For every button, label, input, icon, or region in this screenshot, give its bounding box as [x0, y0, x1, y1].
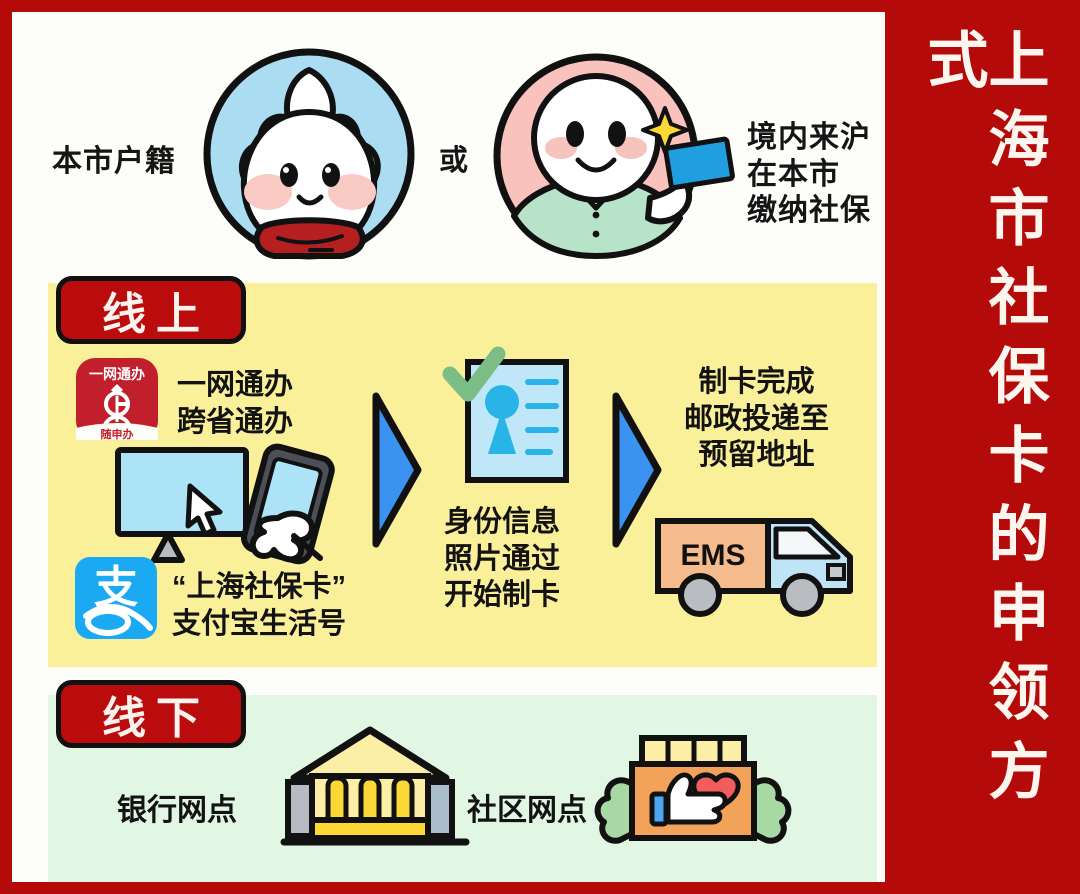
nonresident-label: 境内来沪 在本市 缴纳社保 — [747, 120, 871, 230]
app-icon-top-text: 一网通办 — [89, 366, 145, 382]
step-two-caption: 身份信息 照片通过 开始制卡 — [444, 504, 560, 614]
page-title: 上海市社保卡的申领方式 — [922, 28, 1044, 894]
vertical-title-bar: 上海市社保卡的申领方式 — [885, 0, 1080, 894]
resident-avatar — [202, 42, 417, 267]
eligibility-row: 本市户籍 或 — [12, 12, 885, 282]
ems-truck-icon: EMS — [652, 507, 867, 622]
alipay-caption: “上海社保卡” 支付宝生活号 — [172, 569, 346, 642]
online-section-chip: 线上 — [56, 276, 246, 344]
monitor-and-phone-illustration — [112, 444, 352, 574]
offline-section-chip: 线下 — [56, 680, 246, 748]
connector-label: 或 — [439, 144, 469, 179]
yiwangtongban-caption: 一网通办 跨省通办 — [177, 367, 293, 440]
step-three-caption: 制卡完成 邮政投递至 预留地址 — [684, 364, 829, 474]
poster-root: 上海市社保卡的申领方式 本市户籍 — [0, 0, 1080, 894]
community-branch-label: 社区网点 — [467, 792, 587, 830]
arrow-right-one-icon — [370, 390, 425, 550]
community-center-icon — [604, 732, 784, 850]
alipay-app-icon[interactable]: 支 — [74, 556, 158, 640]
id-document-icon — [444, 350, 574, 490]
resident-label: 本市户籍 — [52, 144, 176, 181]
yiwangtongban-app-icon[interactable]: 一网通办 随申办 — [74, 356, 160, 442]
bank-building-icon — [280, 720, 470, 848]
ems-truck-label: EMS — [680, 539, 745, 572]
bank-branch-label: 银行网点 — [117, 792, 237, 830]
app-icon-bottom-text: 随申办 — [101, 427, 134, 441]
nonresident-avatar — [490, 48, 740, 273]
main-canvas: 本市户籍 或 — [12, 12, 885, 882]
